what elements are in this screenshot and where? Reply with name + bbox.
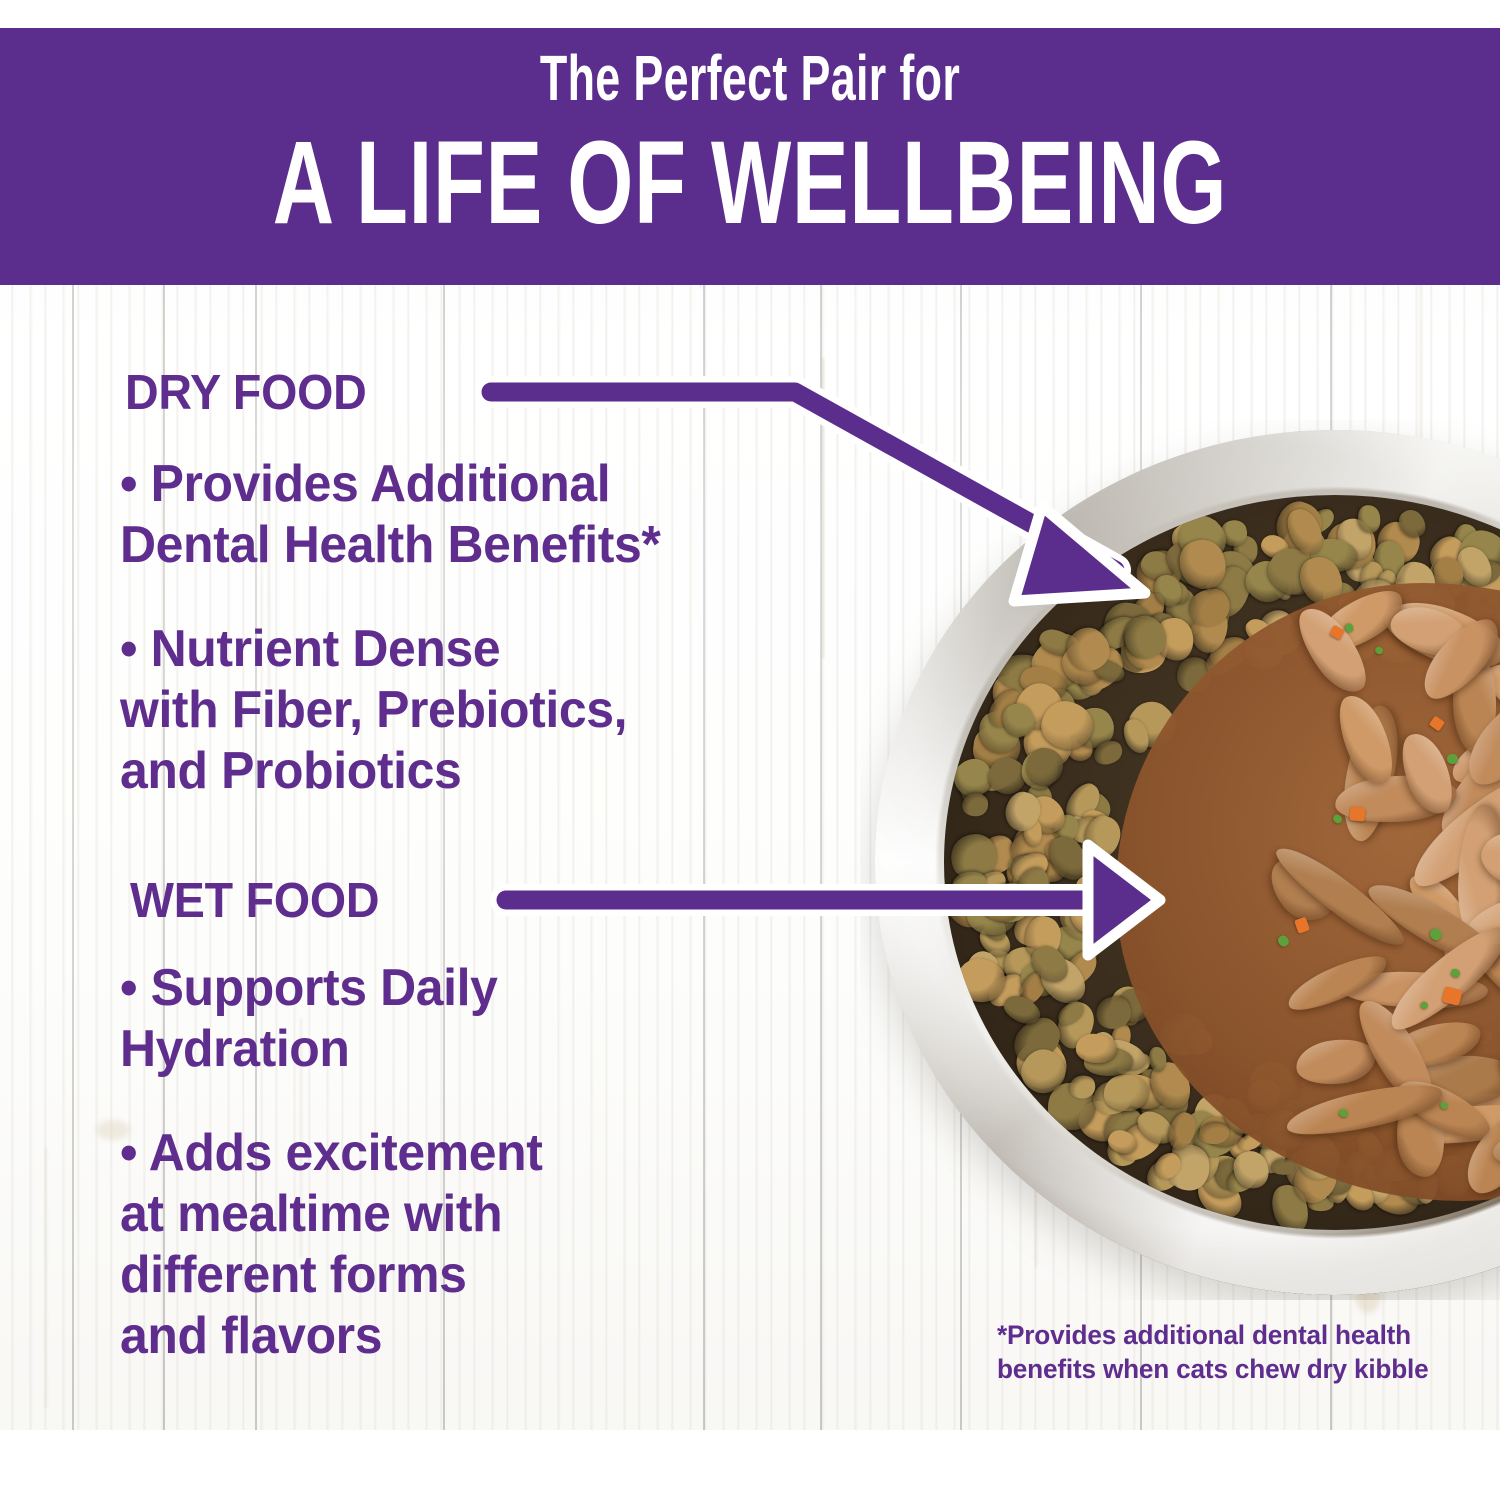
dry-food-bullets: • Provides Additional Dental Health Bene… — [120, 454, 660, 802]
footnote-line: benefits when cats chew dry kibble — [997, 1352, 1428, 1386]
list-item: Hydration — [120, 1019, 542, 1080]
list-item: • Provides Additional — [120, 454, 660, 515]
wet-food-bullets: • Supports Daily Hydration • Adds excite… — [120, 958, 542, 1367]
list-item: and flavors — [120, 1306, 542, 1367]
bowl-outer — [875, 430, 1500, 1295]
promo-graphic: The Perfect Pair for A LIFE OF WELLBEING — [0, 0, 1500, 1500]
footnote: *Provides additional dental health benef… — [997, 1318, 1428, 1386]
page-title: A LIFE OF WELLBEING — [210, 124, 1290, 242]
footnote-line: *Provides additional dental health — [997, 1318, 1428, 1352]
list-item: at mealtime with — [120, 1184, 542, 1245]
list-item: different forms — [120, 1245, 542, 1306]
dry-food-label: DRY FOOD — [125, 369, 367, 418]
header-banner: The Perfect Pair for A LIFE OF WELLBEING — [0, 28, 1500, 285]
food-bowl-photo — [860, 420, 1500, 1300]
list-item: with Fiber, Prebiotics, — [120, 680, 660, 741]
list-item: • Supports Daily — [120, 958, 542, 1019]
header-subtitle: The Perfect Pair for — [225, 46, 1275, 110]
carrot-piece — [1350, 806, 1366, 821]
list-item: Dental Health Benefits* — [120, 515, 660, 576]
wet-food-label: WET FOOD — [130, 877, 379, 926]
list-item: • Adds excitement — [120, 1123, 542, 1184]
pea-piece — [1447, 754, 1459, 764]
list-item: • Nutrient Dense — [120, 619, 660, 680]
list-item: and Probiotics — [120, 741, 660, 802]
